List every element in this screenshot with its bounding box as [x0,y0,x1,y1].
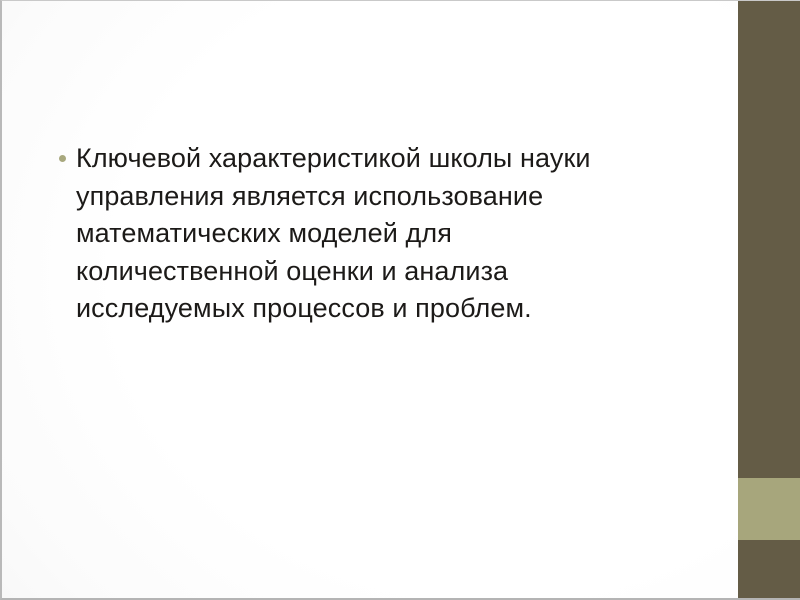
bullet-dot-icon [59,155,66,162]
presentation-slide: Ключевой характеристикой школы науки упр… [0,0,800,600]
right-olive-band-accent [738,478,800,540]
slide-content-body: Ключевой характеристикой школы науки упр… [56,140,656,328]
list-item: Ключевой характеристикой школы науки упр… [56,140,656,328]
bullet-item-text: Ключевой характеристикой школы науки упр… [76,140,656,328]
